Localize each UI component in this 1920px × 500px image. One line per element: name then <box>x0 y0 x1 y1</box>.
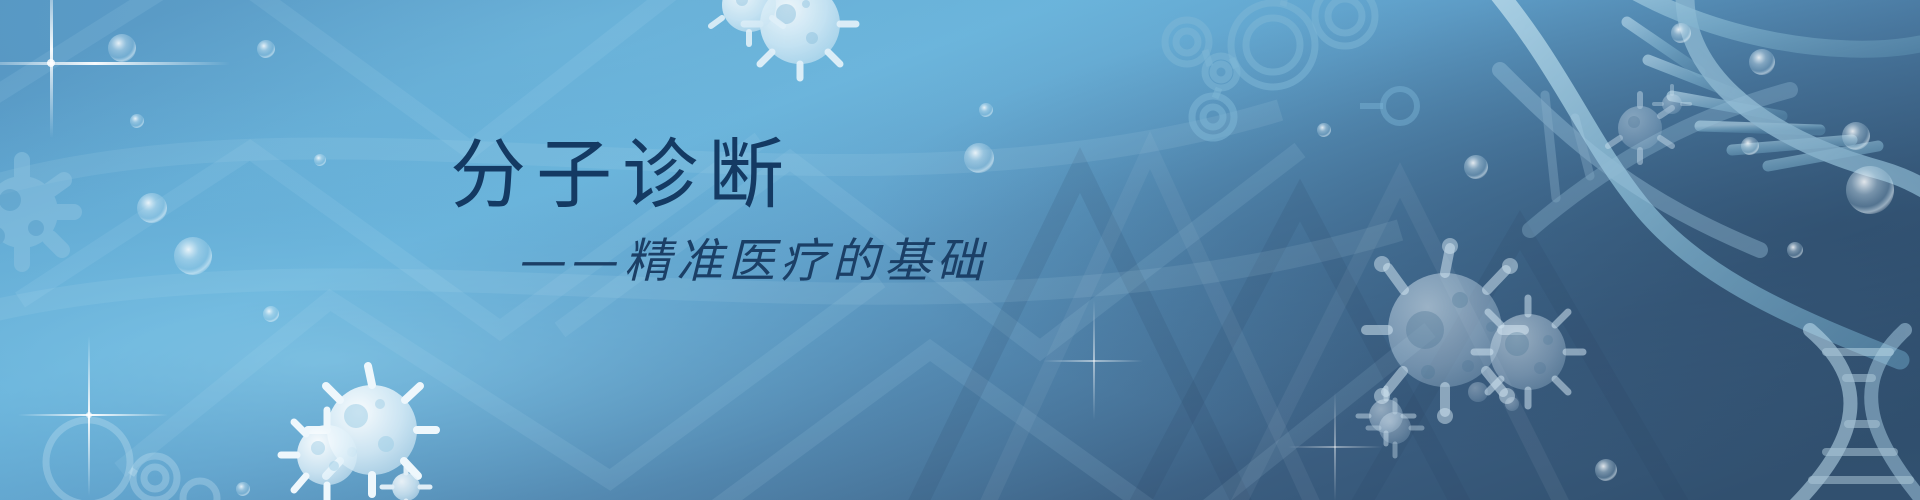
molecular-diagnostics-banner: 分子诊断 ——精准医疗的基础 <box>0 0 1920 500</box>
banner-artwork <box>0 0 1920 500</box>
